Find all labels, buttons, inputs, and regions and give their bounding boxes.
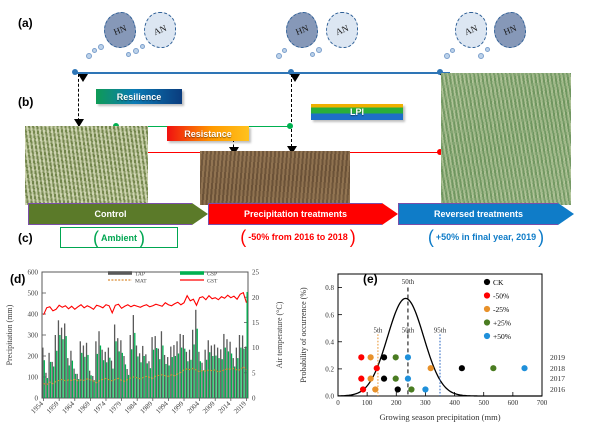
- svg-text:0.4: 0.4: [325, 338, 334, 346]
- svg-text:200: 200: [28, 353, 39, 361]
- svg-text:2017: 2017: [550, 374, 565, 383]
- svg-text:2016: 2016: [550, 385, 565, 394]
- svg-text:GST: GST: [207, 278, 218, 284]
- svg-text:700: 700: [537, 399, 548, 407]
- svg-text:95th: 95th: [434, 326, 447, 334]
- node-green-right: [287, 123, 293, 129]
- svg-text:1959: 1959: [45, 399, 61, 415]
- svg-text:500: 500: [28, 290, 39, 298]
- svg-text:1999: 1999: [170, 399, 186, 415]
- panel-e-tag: (e): [363, 272, 378, 286]
- rain-drop-icon: [276, 53, 282, 59]
- cloud-hn-3: HN: [494, 12, 526, 48]
- note-ambient-text: Ambient: [101, 233, 137, 243]
- lpi-tag: LPI: [311, 104, 403, 120]
- arrow-control[interactable]: Control: [28, 203, 208, 225]
- arrow-precipitation[interactable]: Precipitation treatments: [208, 203, 398, 225]
- svg-text:Growing season precipitation (: Growing season precipitation (mm): [379, 412, 500, 422]
- svg-text:0.6: 0.6: [325, 311, 334, 319]
- svg-text:100: 100: [28, 374, 39, 382]
- svg-text:0.2: 0.2: [325, 365, 334, 373]
- rain-drop-icon: [98, 44, 104, 50]
- svg-text:15: 15: [252, 319, 260, 327]
- svg-text:200: 200: [391, 399, 402, 407]
- photo-drought-plot: [200, 151, 350, 205]
- svg-text:TAP: TAP: [135, 271, 145, 277]
- svg-text:1979: 1979: [107, 399, 123, 415]
- svg-text:1989: 1989: [139, 399, 155, 415]
- dashed-connector-mid: [291, 74, 292, 152]
- arrow-precipitation-label: Precipitation treatments: [208, 203, 382, 225]
- svg-text:Air temperature (°C): Air temperature (°C): [275, 301, 284, 368]
- cloud-an-1: AN: [144, 12, 176, 48]
- svg-text:400: 400: [28, 311, 39, 319]
- cloud-an-3: AN: [455, 12, 487, 48]
- arrow-precipitation-head: [382, 203, 398, 225]
- rain-drop-icon: [140, 44, 145, 49]
- svg-text:500: 500: [478, 399, 489, 407]
- panel-c-tag: (c): [18, 231, 33, 245]
- arrow-control-head: [192, 203, 208, 225]
- rain-drop-icon: [316, 47, 322, 53]
- svg-text:Precipitation (mm): Precipitation (mm): [5, 304, 14, 365]
- arrow-reversed[interactable]: Reversed treatments: [398, 203, 574, 225]
- rain-drop-icon: [126, 52, 131, 57]
- svg-text:2019: 2019: [550, 353, 565, 362]
- svg-text:GSP: GSP: [207, 271, 217, 277]
- svg-text:2014: 2014: [217, 399, 233, 415]
- svg-text:Probability of occurrence (%): Probability of occurrence (%): [299, 287, 308, 383]
- svg-text:0.8: 0.8: [325, 284, 334, 292]
- rain-drop-icon: [444, 53, 450, 59]
- note-drought: (-50% from 2016 to 2018): [212, 227, 384, 246]
- panel-d-chart[interactable]: 0100200300400500600051015202519541959196…: [0, 262, 290, 436]
- cloud-hn-1: HN: [104, 12, 136, 48]
- svg-text:300: 300: [420, 399, 431, 407]
- svg-text:5th: 5th: [373, 326, 382, 334]
- svg-text:100: 100: [362, 399, 373, 407]
- timeline-axis: [75, 72, 450, 74]
- rain-drop-icon: [282, 48, 287, 53]
- resilience-tag: Resilience: [96, 89, 182, 104]
- svg-text:-25%: -25%: [493, 305, 509, 314]
- svg-text:+50%: +50%: [493, 332, 511, 341]
- svg-text:400: 400: [449, 399, 460, 407]
- svg-text:+25%: +25%: [493, 319, 511, 328]
- svg-text:20: 20: [252, 294, 260, 302]
- note-ambient: (Ambient): [60, 227, 178, 248]
- arrow-reversed-label: Reversed treatments: [398, 203, 558, 225]
- svg-text:1954: 1954: [29, 399, 45, 415]
- svg-text:0: 0: [336, 399, 340, 407]
- svg-text:600: 600: [28, 269, 39, 277]
- rain-drop-icon: [310, 52, 315, 57]
- panel-b-tag: (b): [18, 95, 33, 109]
- svg-text:1994: 1994: [154, 399, 170, 415]
- svg-text:0: 0: [252, 395, 256, 403]
- timeline-marker-1: [78, 74, 88, 82]
- svg-text:25: 25: [252, 269, 260, 277]
- svg-text:600: 600: [508, 399, 519, 407]
- rain-drop-icon: [485, 47, 490, 52]
- svg-text:1984: 1984: [123, 399, 139, 415]
- arrow-control-label: Control: [28, 203, 192, 225]
- svg-text:-50%: -50%: [493, 292, 509, 301]
- svg-text:1964: 1964: [61, 399, 77, 415]
- rain-drop-icon: [86, 53, 92, 59]
- svg-text:MAT: MAT: [135, 278, 147, 284]
- svg-text:1969: 1969: [76, 399, 92, 415]
- rain-drop-icon: [92, 48, 97, 53]
- svg-text:CK: CK: [493, 278, 504, 287]
- arrow-reversed-head: [558, 203, 574, 225]
- cloud-hn-2: HN: [286, 12, 318, 48]
- svg-text:300: 300: [28, 332, 39, 340]
- svg-text:0.0: 0.0: [325, 393, 334, 401]
- panel-e-chart[interactable]: 0.00.20.40.60.801002003004005006007005th…: [292, 262, 600, 436]
- panel-a-tag: (a): [18, 16, 33, 30]
- svg-text:2009: 2009: [201, 399, 217, 415]
- note-reversed: (+50% in final year, 2019): [398, 227, 574, 246]
- note-drought-text: -50% from 2016 to 2018: [248, 232, 348, 242]
- cloud-an-2: AN: [326, 12, 358, 48]
- rain-drop-icon: [133, 48, 139, 54]
- resistance-tag: Resistance: [167, 126, 249, 141]
- photo-control-plot: [25, 126, 148, 205]
- rain-drop-icon: [478, 53, 484, 59]
- svg-text:5: 5: [252, 369, 256, 377]
- svg-text:2004: 2004: [185, 399, 201, 415]
- svg-text:2018: 2018: [550, 364, 565, 373]
- note-reversed-text: +50% in final year, 2019: [436, 232, 536, 242]
- svg-text:1974: 1974: [92, 399, 108, 415]
- svg-text:50th: 50th: [402, 278, 415, 286]
- svg-text:10: 10: [252, 344, 260, 352]
- photo-reversed-plot: [441, 73, 571, 205]
- rain-drop-icon: [450, 48, 455, 53]
- svg-text:2019: 2019: [232, 399, 248, 415]
